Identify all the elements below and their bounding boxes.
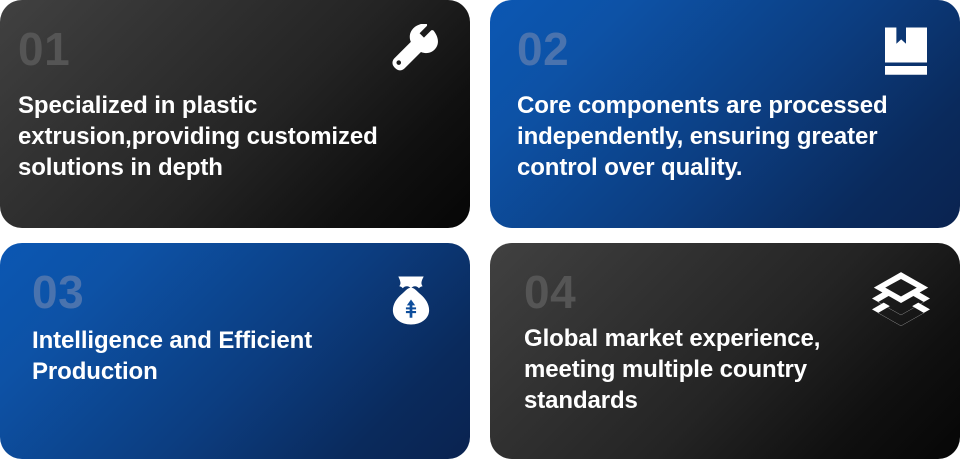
card-number: 02	[517, 26, 930, 72]
feature-card-03[interactable]: 03 Intelligence and Efficient Production	[0, 243, 470, 459]
card-title: Global market experience, meeting multip…	[524, 323, 930, 417]
card-number: 01	[18, 26, 440, 72]
feature-card-04[interactable]: 04 Global market experience, meeting mul…	[490, 243, 960, 459]
card-title: Intelligence and Efficient Production	[32, 325, 440, 387]
feature-card-02[interactable]: 02 Core components are processed indepen…	[490, 0, 960, 228]
feature-card-01[interactable]: 01 Specialized in plastic extrusion,prov…	[0, 0, 470, 228]
card-number: 04	[524, 269, 930, 315]
card-title: Core components are processed independen…	[517, 90, 930, 184]
feature-card-grid: 01 Specialized in plastic extrusion,prov…	[0, 0, 960, 459]
card-number: 03	[32, 269, 440, 315]
card-title: Specialized in plastic extrusion,providi…	[18, 90, 440, 184]
